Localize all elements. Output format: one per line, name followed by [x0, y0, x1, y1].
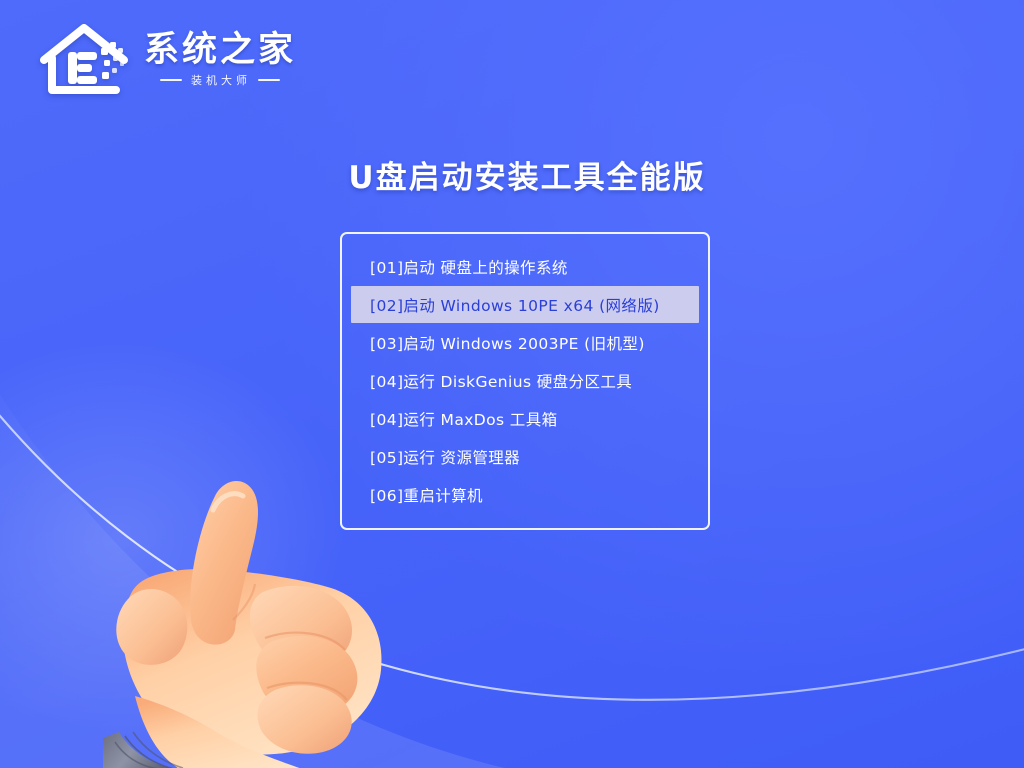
menu-item-03[interactable]: [03]启动 Windows 2003PE (旧机型)	[351, 324, 699, 361]
menu-item-01[interactable]: [01]启动 硬盘上的操作系统	[351, 248, 699, 285]
logo-subtitle: 装机大师	[160, 72, 280, 88]
menu-item-06[interactable]: [06]重启计算机	[351, 476, 699, 513]
dash-left-icon	[160, 79, 182, 81]
brand-logo: 系统之家 装机大师	[38, 18, 296, 98]
boot-menu-screen: 系统之家 装机大师 U盘启动安装工具全能版 [01]启动 硬盘上的操作系统 [0…	[0, 0, 1024, 768]
page-title: U盘启动安装工具全能版	[0, 152, 1024, 197]
menu-item-02[interactable]: [02]启动 Windows 10PE x64 (网络版)	[351, 286, 699, 323]
menu-item-04-diskgenius[interactable]: [04]运行 DiskGenius 硬盘分区工具	[351, 362, 699, 399]
logo-title: 系统之家	[144, 32, 296, 69]
sleeve-cuff-icon	[103, 732, 183, 768]
logo-subtitle-label: 装机大师	[189, 72, 251, 88]
logo-text-block: 系统之家 装机大师	[144, 28, 296, 88]
boot-menu-panel: [01]启动 硬盘上的操作系统 [02]启动 Windows 10PE x64 …	[340, 232, 710, 530]
boot-menu-list: [01]启动 硬盘上的操作系统 [02]启动 Windows 10PE x64 …	[342, 248, 708, 513]
house-pixel-logo-icon	[38, 18, 134, 98]
menu-item-04-maxdos[interactable]: [04]运行 MaxDos 工具箱	[351, 400, 699, 437]
dash-right-icon	[258, 79, 280, 81]
menu-item-05[interactable]: [05]运行 资源管理器	[351, 438, 699, 475]
arc-glow	[0, 340, 350, 740]
